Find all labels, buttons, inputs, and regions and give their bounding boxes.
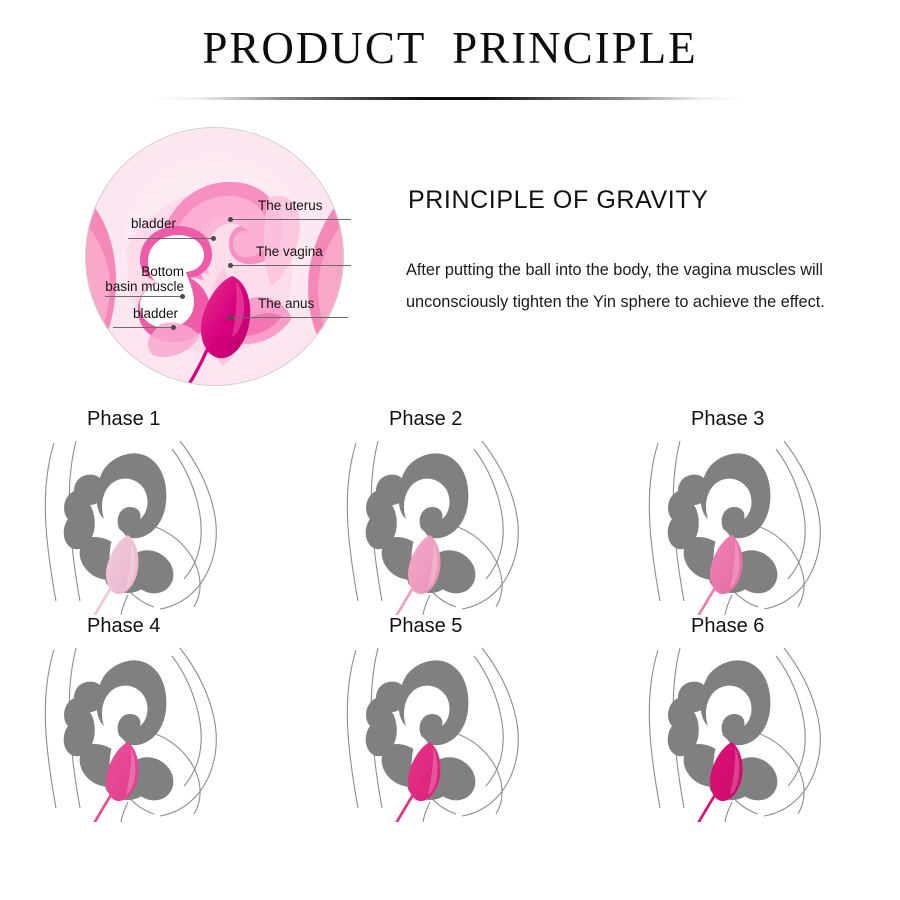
- label-bladder-upper-text: bladder: [131, 216, 176, 231]
- leader-bladder-upper: [128, 238, 213, 239]
- leader-dot-the-vagina: [228, 263, 233, 268]
- gravity-body-text: After putting the ball into the body, th…: [406, 254, 826, 318]
- phase-illustration: [32, 435, 302, 615]
- phase-cell: Phase 5: [324, 615, 604, 822]
- phase-label: Phase 5: [389, 615, 604, 638]
- leader-the-vagina: [230, 265, 351, 266]
- label-bladder-upper: bladder: [96, 216, 176, 231]
- phase-cell: Phase 1: [22, 408, 302, 615]
- label-bottom-basin-muscle: Bottom basin muscle: [74, 264, 184, 294]
- phase-illustration: [636, 642, 900, 822]
- label-the-anus-text: The anus: [258, 296, 314, 311]
- phase-cell: Phase 6: [626, 615, 900, 822]
- phase-label: Phase 4: [87, 615, 302, 638]
- label-bladder-lower-text: bladder: [133, 306, 178, 321]
- phase-cell: Phase 4: [22, 615, 302, 822]
- leader-dot-bladder-lower: [171, 325, 176, 330]
- phase-row-top: Phase 1: [0, 408, 900, 615]
- label-bladder-lower: bladder: [98, 306, 178, 321]
- leader-the-uterus: [230, 219, 351, 220]
- leader-bottom-basin: [105, 296, 182, 297]
- title-divider: [150, 97, 750, 100]
- phase-cell: Phase 3: [626, 408, 900, 615]
- label-the-uterus: The uterus: [258, 198, 323, 213]
- label-the-anus: The anus: [258, 296, 314, 311]
- phase-grid: Phase 1: [0, 408, 900, 822]
- phase-label: Phase 3: [691, 408, 900, 431]
- leader-the-anus: [230, 317, 348, 318]
- phase-illustration: [636, 435, 900, 615]
- label-the-vagina-text: The vagina: [256, 244, 323, 259]
- phase-cell: Phase 2: [324, 408, 604, 615]
- leader-dot-the-uterus: [228, 217, 233, 222]
- phase-illustration: [32, 642, 302, 822]
- leader-dot-bottom-basin: [180, 294, 185, 299]
- phase-label: Phase 1: [87, 408, 302, 431]
- page-title: PRODUCT PRINCIPLE: [0, 22, 900, 74]
- phase-label: Phase 6: [691, 615, 900, 638]
- label-bottom-basin-line2: basin muscle: [105, 279, 184, 294]
- gravity-heading: PRINCIPLE OF GRAVITY: [408, 186, 708, 215]
- phase-illustration: [334, 642, 604, 822]
- phase-illustration: [334, 435, 604, 615]
- label-bottom-basin-line1: Bottom: [141, 264, 184, 279]
- label-the-uterus-text: The uterus: [258, 198, 323, 213]
- leader-bladder-lower: [113, 327, 173, 328]
- leader-dot-bladder-upper: [211, 236, 216, 241]
- phase-row-bottom: Phase 4: [0, 615, 900, 822]
- label-the-vagina: The vagina: [256, 244, 323, 259]
- leader-dot-the-anus: [228, 315, 233, 320]
- phase-label: Phase 2: [389, 408, 604, 431]
